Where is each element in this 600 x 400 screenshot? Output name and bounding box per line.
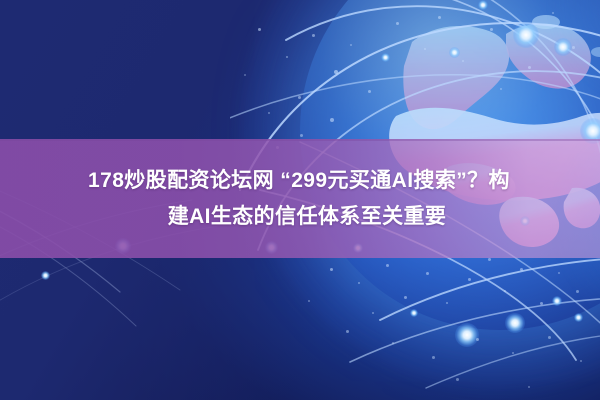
headline-line-1: 178炒股配资论坛网 “299元买通AI搜索”？构: [88, 165, 510, 197]
glow-node: [410, 309, 418, 317]
news-banner-image: 178炒股配资论坛网 “299元买通AI搜索”？构 建AI生态的信任体系至关重要: [0, 0, 600, 400]
glow-node: [449, 47, 460, 58]
glow-node: [478, 0, 488, 10]
glow-node: [381, 53, 390, 62]
headline-line-2: 建AI生态的信任体系至关重要: [168, 201, 447, 233]
glow-node: [554, 38, 572, 56]
glow-node: [455, 323, 479, 347]
glow-node: [552, 296, 562, 306]
headline-block: 178炒股配资论坛网 “299元买通AI搜索”？构 建AI生态的信任体系至关重要: [0, 139, 600, 258]
glow-node: [41, 271, 50, 280]
glow-node: [513, 22, 539, 48]
glow-node: [505, 313, 525, 333]
glow-node: [574, 313, 583, 322]
